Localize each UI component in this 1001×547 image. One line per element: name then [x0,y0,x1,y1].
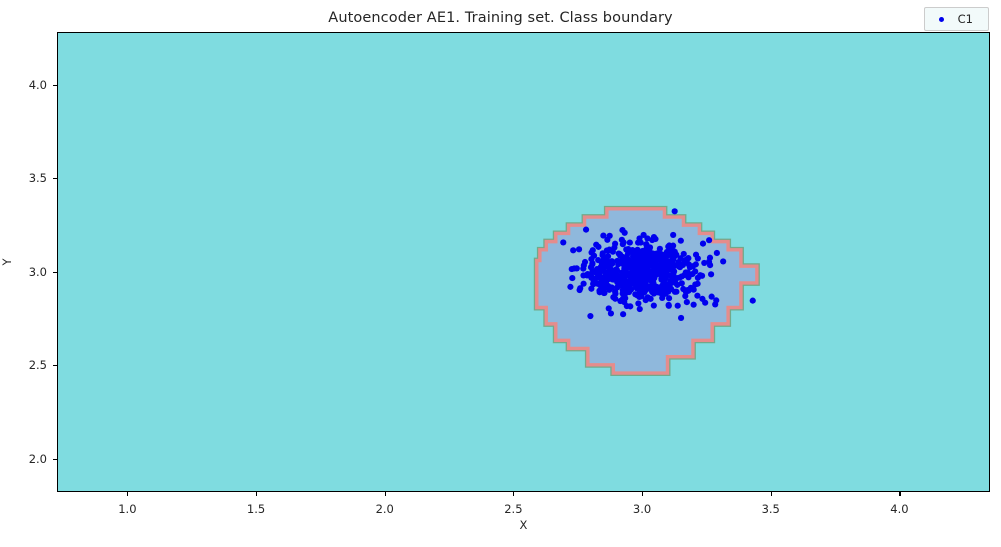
x-tick-label: 2.0 [376,502,394,516]
y-tick-label: 3.5 [47,171,65,185]
axis-ticks: 1.01.52.02.53.03.54.02.02.53.03.54.0 [57,32,990,492]
x-tick-mark [385,492,386,496]
y-axis-label: Y [0,258,14,265]
matplotlib-figure: Autoencoder AE1. Training set. Class bou… [0,0,1001,547]
x-tick-mark [127,492,128,496]
x-tick-label: 3.0 [633,502,651,516]
y-tick-label: 2.0 [47,452,65,466]
x-tick-mark [256,492,257,496]
y-tick-label: 2.5 [47,358,65,372]
x-tick-label: 4.0 [890,502,908,516]
x-tick-mark [899,492,900,496]
x-tick-mark [642,492,643,496]
x-tick-label: 2.5 [504,502,522,516]
legend-label-c1: C1 [958,12,973,26]
y-tick-label: 3.0 [47,265,65,279]
x-tick-label: 3.5 [762,502,780,516]
legend-marker-c1-icon [939,17,944,22]
legend: C1 [924,7,989,31]
x-tick-label: 1.5 [247,502,265,516]
y-tick-label: 4.0 [47,78,65,92]
x-tick-mark [771,492,772,496]
x-axis-label: X [57,518,990,532]
page-title: Autoencoder AE1. Training set. Class bou… [0,10,1001,26]
x-tick-label: 1.0 [118,502,136,516]
x-tick-mark [513,492,514,496]
